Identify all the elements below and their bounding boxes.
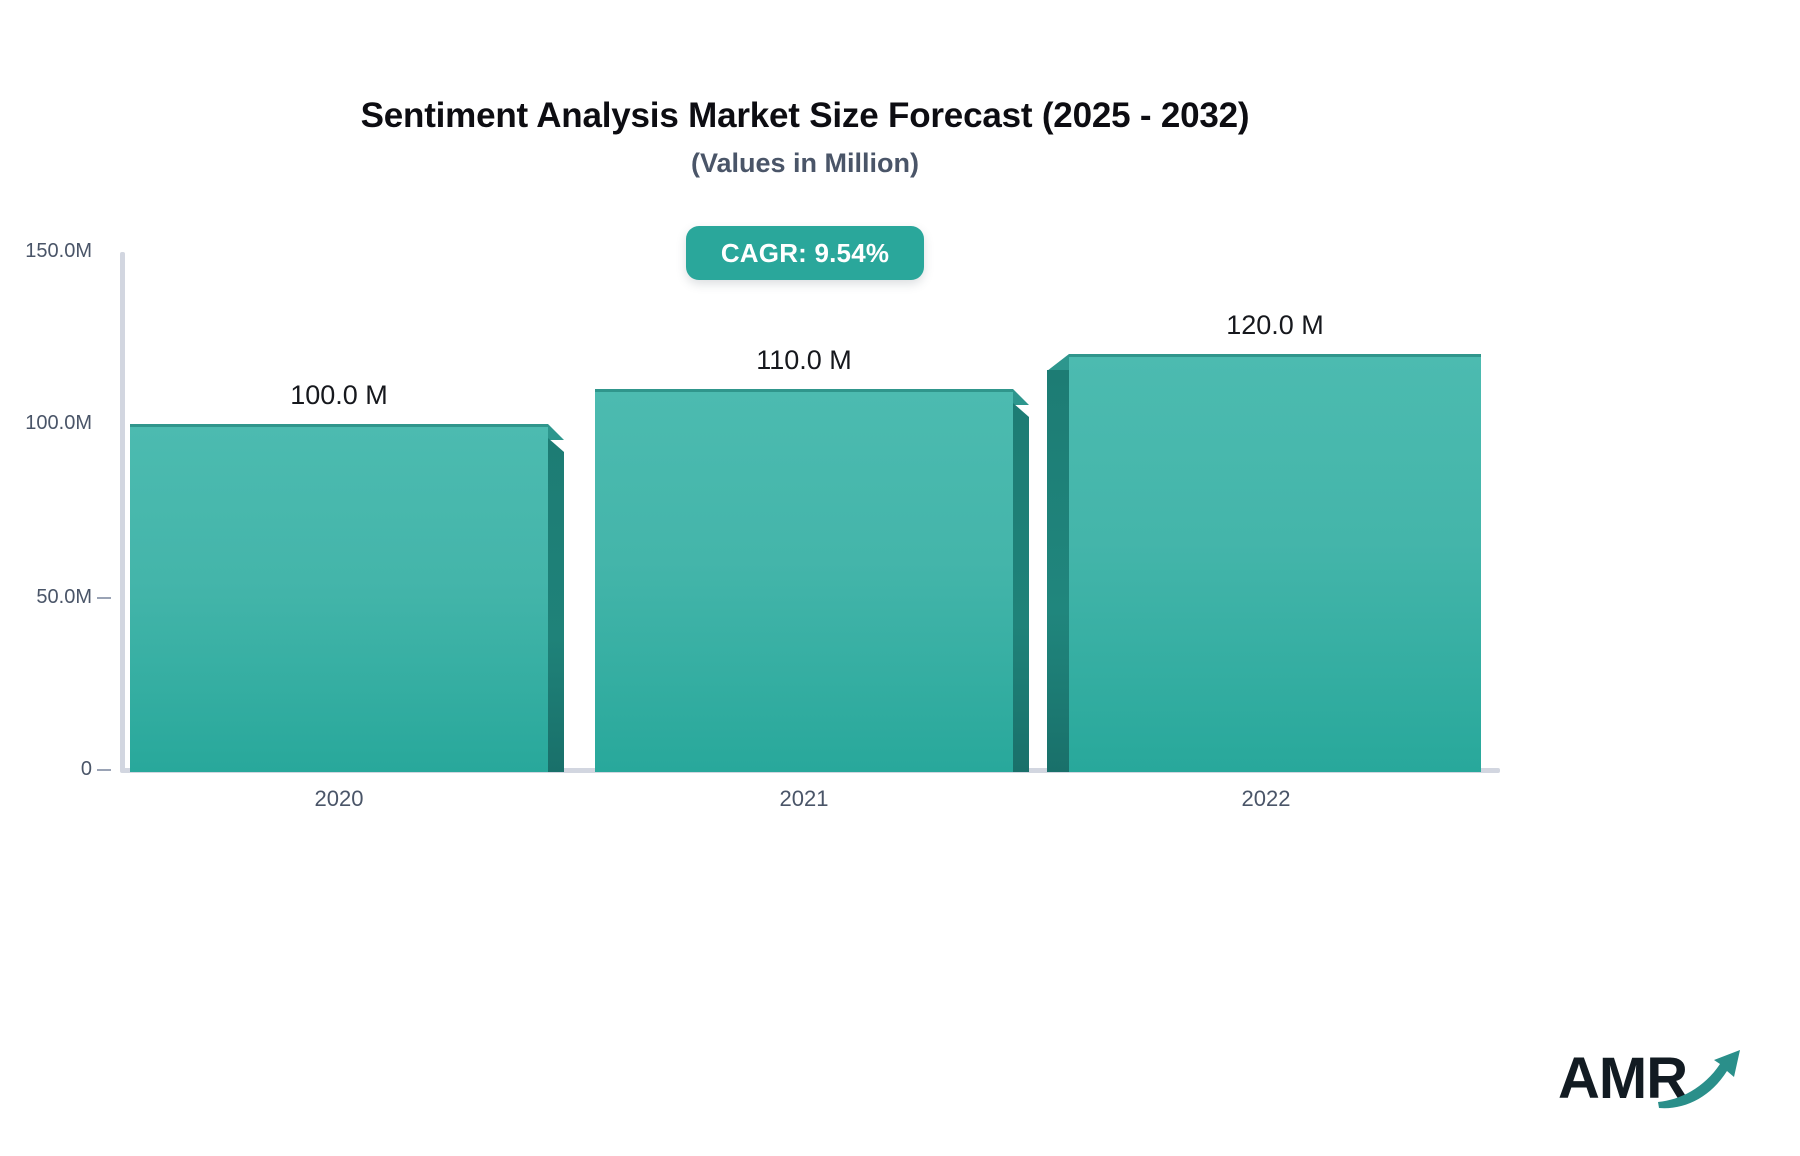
- bar-3d-chamfer: [1047, 354, 1069, 371]
- x-axis-label-2020: 2020: [130, 786, 548, 812]
- bar-3d-chamfer: [548, 424, 564, 440]
- y-tick-label: 150.0M: [25, 240, 92, 263]
- bar-2020[interactable]: 100.0 M: [130, 424, 548, 772]
- y-tick-mark: [97, 769, 111, 771]
- bar-face: [1069, 354, 1481, 772]
- x-axis-label-2021: 2021: [595, 786, 1013, 812]
- y-tick-50m: 50.0M: [0, 586, 92, 610]
- bar-face: [595, 389, 1013, 772]
- bar-3d-side: [1047, 370, 1069, 772]
- bar-2021[interactable]: 110.0 M: [595, 389, 1013, 772]
- bar-2022[interactable]: 120.0 M: [1069, 354, 1481, 772]
- amr-logo: AMR: [1558, 1040, 1748, 1126]
- bar-3d-chamfer: [1013, 389, 1029, 405]
- y-tick-100m: 100.0M: [0, 412, 92, 436]
- bar-value-label: 120.0 M: [1069, 310, 1481, 341]
- chart-canvas: Sentiment Analysis Market Size Forecast …: [0, 0, 1800, 1156]
- plot-area: 150.0M 100.0M 50.0M 0 100.0 M 110.0 M: [0, 0, 1800, 1156]
- x-axis-label-2022: 2022: [1057, 786, 1475, 812]
- y-tick-label: 100.0M: [25, 412, 92, 435]
- bar-face: [130, 424, 548, 772]
- bar-3d-side: [548, 438, 564, 772]
- y-tick-0: 0: [0, 758, 92, 782]
- bar-top-edge: [595, 389, 1013, 392]
- y-tick-mark: [97, 597, 111, 599]
- y-tick-label: 0: [81, 758, 92, 781]
- y-tick-label: 50.0M: [36, 586, 92, 609]
- bar-value-label: 110.0 M: [595, 345, 1013, 376]
- bar-top-edge: [130, 424, 548, 427]
- growth-arrow-icon: [1654, 1044, 1744, 1114]
- y-tick-150m: 150.0M: [0, 240, 92, 264]
- bar-top-edge: [1069, 354, 1481, 357]
- y-axis-line: [120, 252, 125, 772]
- bar-value-label: 100.0 M: [130, 380, 548, 411]
- bar-3d-side: [1013, 403, 1029, 772]
